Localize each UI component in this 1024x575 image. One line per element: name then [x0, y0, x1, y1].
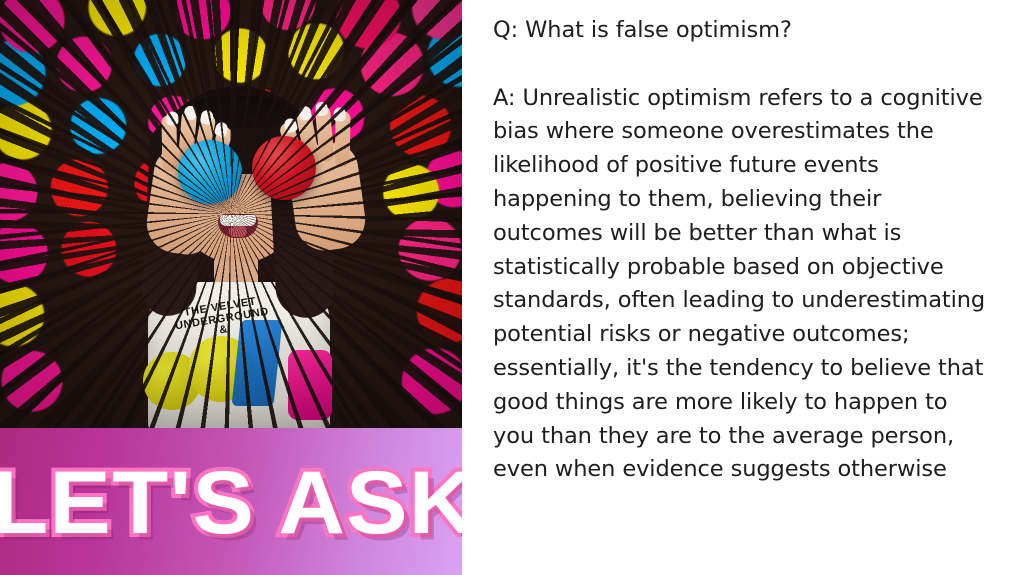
fingernail: [334, 107, 346, 121]
fingernail: [166, 111, 178, 125]
fingernail: [315, 101, 328, 116]
question-paragraph: Q: What is false optimism?: [493, 14, 993, 48]
red-ball-over-eye: [252, 136, 316, 200]
fingernail: [298, 105, 312, 121]
banner-title-text: LET'S ASK AI: [0, 457, 462, 546]
lets-ask-ai-banner: LET'S ASK AI: [0, 428, 462, 575]
fingernail: [184, 105, 197, 120]
question-label: Q:: [493, 17, 518, 43]
answer-text: Unrealistic optimism refers to a cogniti…: [493, 85, 985, 483]
answer-paragraph: A: Unrealistic optimism refers to a cogn…: [493, 82, 993, 488]
banner-title: LET'S ASK AI: [0, 463, 462, 541]
hero-photo: THE VELVET UNDERGROUND &: [0, 0, 462, 428]
tongue: [229, 226, 247, 237]
media-panel: THE VELVET UNDERGROUND &: [0, 0, 462, 575]
shirt-graphic-pink: [288, 350, 332, 420]
teeth: [220, 215, 256, 226]
question-text: What is false optimism?: [525, 17, 792, 43]
blue-ball-over-eye: [178, 140, 242, 204]
slide-root: THE VELVET UNDERGROUND &: [0, 0, 1024, 575]
person-figure: THE VELVET UNDERGROUND &: [0, 0, 462, 428]
answer-label: A:: [493, 85, 515, 111]
qa-column: Q: What is false optimism? A: Unrealisti…: [493, 0, 993, 575]
